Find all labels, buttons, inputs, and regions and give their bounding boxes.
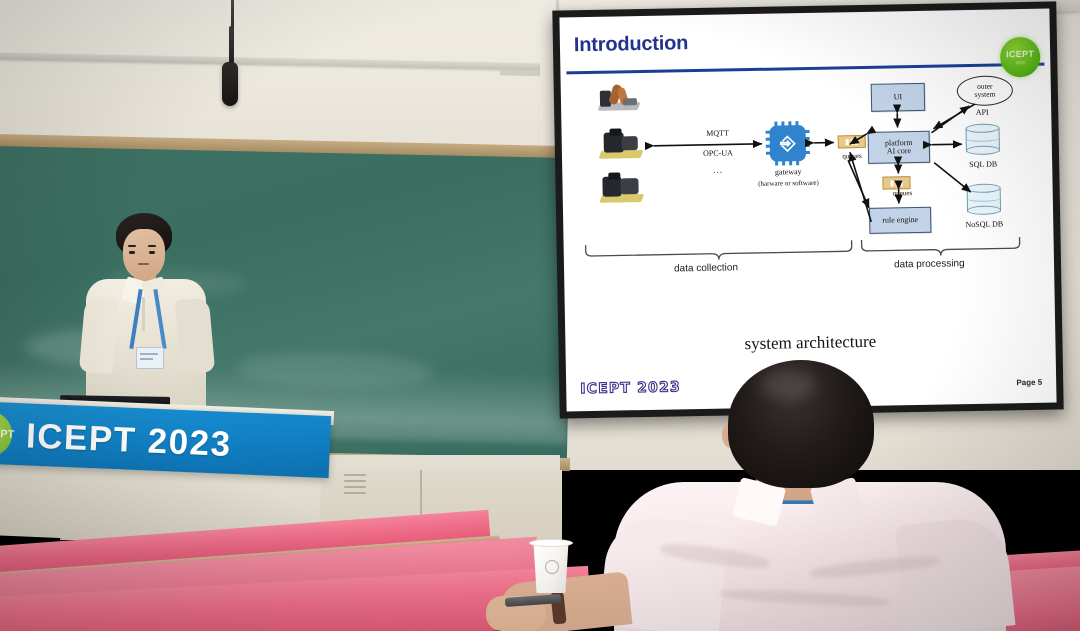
presenter-eye-right [149,251,155,254]
presenter-face [123,229,165,279]
lecture-hall-photo: △MITSUBISHI ELECTRIC Introduction ICEPT … [0,0,1080,631]
presentation-slide: Introduction ICEPT 2023 [559,9,1056,412]
presenter-name-badge [136,347,164,369]
hanging-microphone-icon [222,62,238,106]
audience-hair-highlight [760,370,816,400]
icept-logo-subtext: 2023 [1016,61,1025,65]
diagram-group-braces [561,71,1055,285]
banner-logo-text: ICEPT [0,428,15,441]
group-label-data-processing: data processing [894,258,965,270]
presenter-placket [142,297,145,331]
presenter-eye-left [129,251,135,254]
system-architecture-diagram: MQTT OPC-UA ... ⎆ [561,71,1055,285]
group-label-data-collection: data collection [674,262,738,274]
slide-title: Introduction [574,32,689,57]
banner-logo-icon: ICEPT [0,410,13,458]
banner-title: ICEPT 2023 [25,416,232,465]
slide-page-number: Page 5 [1016,378,1042,387]
presenter-sleeve-right [175,298,215,375]
microphone-rod [229,26,234,64]
presenter-brow-right [148,245,156,247]
slide-caption: system architecture [565,328,1055,357]
paper-cup-rim [529,539,573,547]
projection-screen: Introduction ICEPT 2023 [552,1,1063,418]
icept-logo-text: ICEPT [1006,49,1034,59]
audience-person [600,360,1020,631]
paper-cup-logo-icon [545,560,559,574]
microphone-cable [231,0,234,28]
presenter-person [78,213,218,413]
presenter-mouth [138,263,149,265]
presenter-brow-left [128,245,136,247]
presenter-sleeve-left [79,298,119,375]
